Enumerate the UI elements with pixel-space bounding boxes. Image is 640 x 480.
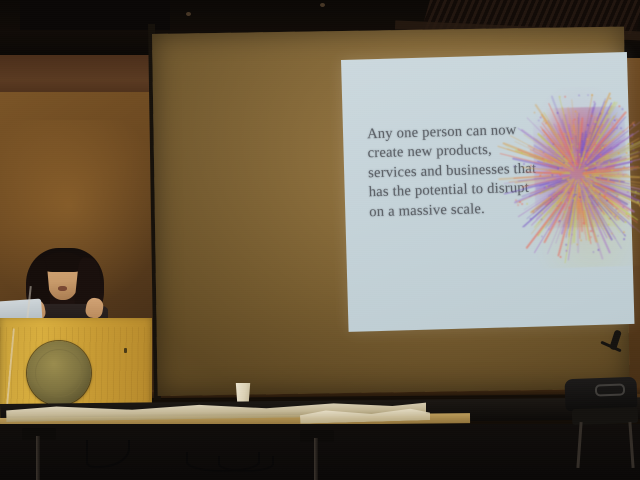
ceiling-light-dot: [320, 3, 325, 7]
network-hairball-visualization: [514, 80, 640, 284]
chair-handle-cutout: [595, 383, 625, 396]
presenter-mouth: [58, 286, 67, 291]
floor-cable: [218, 456, 274, 472]
podium-fastener: [124, 348, 127, 353]
projected-slide: Any one person can now create new produc…: [341, 52, 634, 332]
hairball-filaments: [514, 80, 640, 84]
table-leg: [36, 436, 40, 480]
lecture-hall-photo: Any one person can now create new produc…: [0, 0, 640, 480]
upper-wall-band: [0, 55, 170, 97]
ceiling-light-dot: [186, 12, 191, 16]
table-leg: [314, 438, 318, 480]
